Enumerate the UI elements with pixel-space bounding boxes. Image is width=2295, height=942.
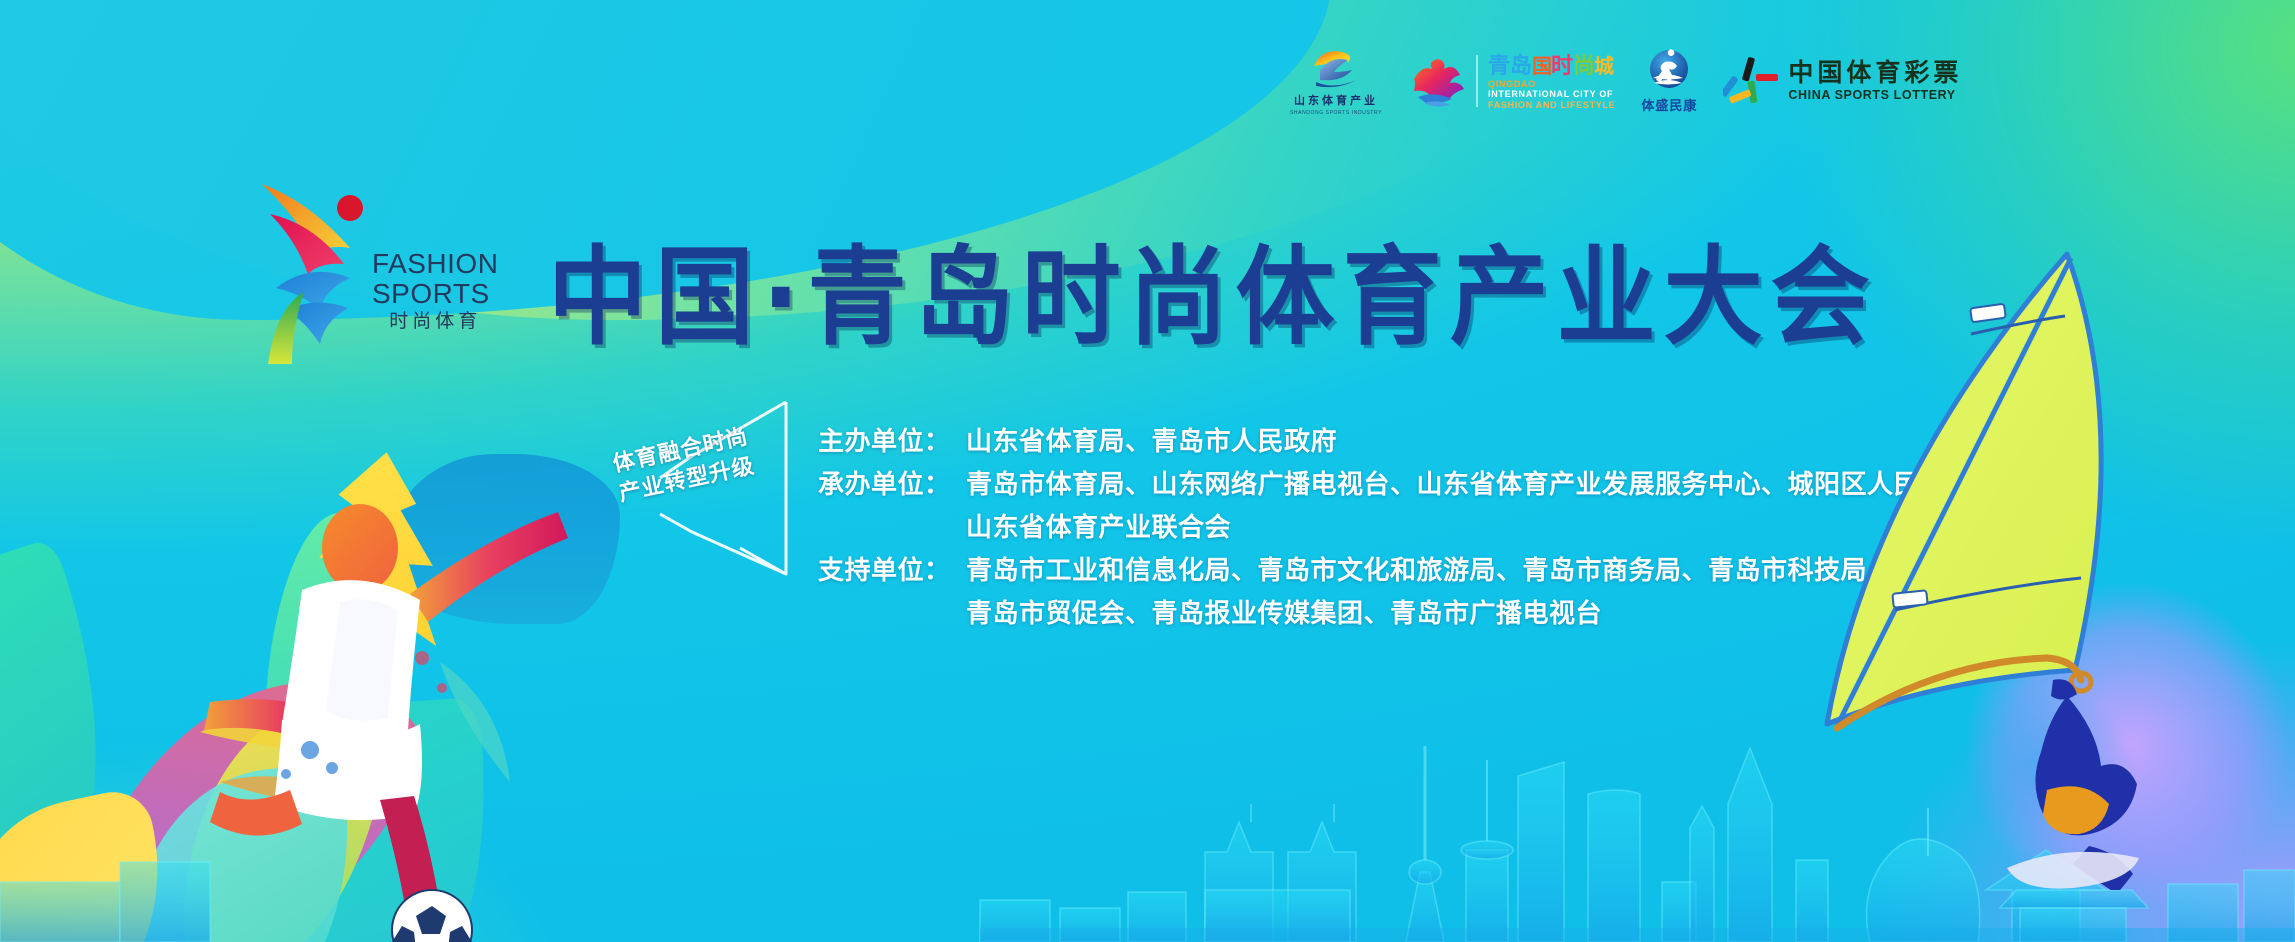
logo-divider (1476, 55, 1478, 107)
shandong-logo-chinese: 山东体育产业 (1294, 92, 1378, 108)
lottery-logo-english: CHINA SPORTS LOTTERY (1788, 88, 1962, 102)
poster-canvas: 山东体育产业 SHANDONG SPORTS INDUSTRY (0, 0, 2295, 942)
host-label: 主办单位： (818, 420, 966, 463)
svg-text:时: 时 (1551, 54, 1573, 78)
logo-tisheng-minkang: 体盛民康 (1641, 48, 1697, 114)
qingdao-english-line-1: QINGDAO (1488, 79, 1615, 90)
soccer-player-illustration (190, 482, 660, 942)
fashion-sports-figure-icon (258, 178, 368, 368)
page-title: 中国·青岛时尚体育产业大会 (548, 238, 1878, 359)
lottery-logo-chinese: 中国体育彩票 (1788, 61, 1962, 86)
svg-text:国: 国 (1532, 54, 1552, 78)
tisheng-minkang-icon (1645, 48, 1693, 94)
shandong-sports-industry-icon (1308, 46, 1364, 90)
sponsor-logo-row: 山东体育产业 SHANDONG SPORTS INDUSTRY (1290, 44, 1962, 118)
tisheng-logo-chinese: 体盛民康 (1641, 95, 1697, 114)
qingdao-english-line-3: FASHION AND LIFESTYLE (1488, 100, 1615, 111)
qingdao-logo-chinese: 青岛 国 时 尚 城 (1488, 52, 1615, 78)
logo-shandong-sports-industry: 山东体育产业 SHANDONG SPORTS INDUSTRY (1290, 46, 1382, 116)
svg-text:青岛: 青岛 (1488, 53, 1532, 78)
fashion-sports-chinese: 时尚体育 (372, 310, 498, 334)
svg-text:尚: 尚 (1573, 54, 1595, 78)
logo-china-sports-lottery: 中国体育彩票 CHINA SPORTS LOTTERY (1723, 55, 1962, 107)
windsurfer-illustration (1775, 250, 2255, 890)
fashion-sports-event-logo: FASHION SPORTS 时尚体育 (258, 178, 498, 368)
china-sports-lottery-icon (1723, 55, 1779, 107)
organiser-label: 承办单位： (818, 463, 966, 506)
support-label: 支持单位： (818, 549, 966, 592)
fashion-sports-line-2: SPORTS (372, 279, 498, 309)
qingdao-fashion-city-icon (1408, 53, 1466, 109)
qingdao-logo-text: 青岛 国 时 尚 城 QINGDAO INTERNATIONAL CITY OF… (1488, 52, 1615, 111)
qingdao-english-line-2: INTERNATIONAL CITY OF (1488, 89, 1615, 100)
china-sports-lottery-text: 中国体育彩票 CHINA SPORTS LOTTERY (1788, 61, 1962, 102)
fashion-sports-line-1: FASHION (372, 249, 498, 279)
shandong-logo-english: SHANDONG SPORTS INDUSTRY (1290, 110, 1382, 116)
qingdao-logo-english: QINGDAO INTERNATIONAL CITY OF FASHION AN… (1488, 79, 1615, 111)
svg-text:城: 城 (1594, 54, 1614, 78)
logo-qingdao-fashion-city: 青岛 国 时 尚 城 QINGDAO INTERNATIONAL CITY OF… (1408, 52, 1615, 111)
fashion-sports-wordmark: FASHION SPORTS 时尚体育 (372, 249, 498, 368)
